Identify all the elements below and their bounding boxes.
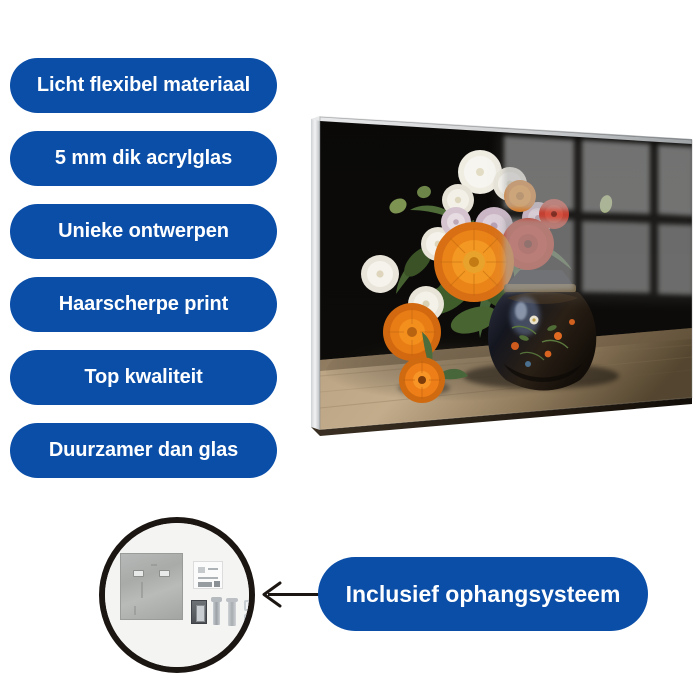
product-feature-page: Licht flexibel materiaal 5 mm dik acrylg… [0,0,700,700]
hanging-kit-photo-inner [99,517,255,673]
callout-badge-label: Inclusief ophangsysteem [346,581,621,608]
mounting-plate-slot-right [159,570,170,577]
reflection-falloff [498,132,698,302]
feature-badge-unieke-ontwerpen[interactable]: Unieke ontwerpen [10,204,277,259]
feature-badge-label: Duurzamer dan glas [49,439,238,462]
mounting-plate [120,553,183,620]
acrylic-glass-print-mockup [306,92,700,452]
hanging-kit-photo [99,517,255,673]
mounting-plate-marking [141,582,143,598]
mounting-plate-marking [151,564,157,566]
instruction-card-graphic [198,582,212,587]
feature-badge-label: Unieke ontwerpen [58,220,229,243]
feature-badge-label: Haarscherpe print [59,293,228,316]
feature-badge-top-kwaliteit[interactable]: Top kwaliteit [10,350,277,405]
mounting-plate-slot-left [133,570,144,577]
wall-bracket [191,600,207,624]
feature-badge-haarscherpe-print[interactable]: Haarscherpe print [10,277,277,332]
mounting-plate-marking [134,606,136,615]
spacer [244,614,255,625]
feature-badge-duurzamer-dan-glas[interactable]: Duurzamer dan glas [10,423,277,478]
feature-badge-label: Top kwaliteit [84,366,202,389]
callout-badge-inclusief-ophangsysteem[interactable]: Inclusief ophangsysteem [318,557,648,631]
instruction-card-graphic [198,577,218,579]
instruction-card [193,561,223,589]
feature-badge-label: 5 mm dik acrylglas [55,147,232,170]
feature-badge-5-mm-dik-acrylglas[interactable]: 5 mm dik acrylglas [10,131,277,186]
wall-plug [228,599,236,626]
acrylic-left-edge [311,116,320,431]
instruction-card-graphic [214,581,220,587]
spacer [244,600,255,611]
screw [213,599,220,625]
artwork-surface [306,92,700,452]
product-image [306,92,700,452]
feature-badge-licht-flexibel-materiaal[interactable]: Licht flexibel materiaal [10,58,277,113]
instruction-card-graphic [208,568,218,570]
instruction-card-graphic [198,567,205,573]
feature-badge-label: Licht flexibel materiaal [37,74,250,97]
